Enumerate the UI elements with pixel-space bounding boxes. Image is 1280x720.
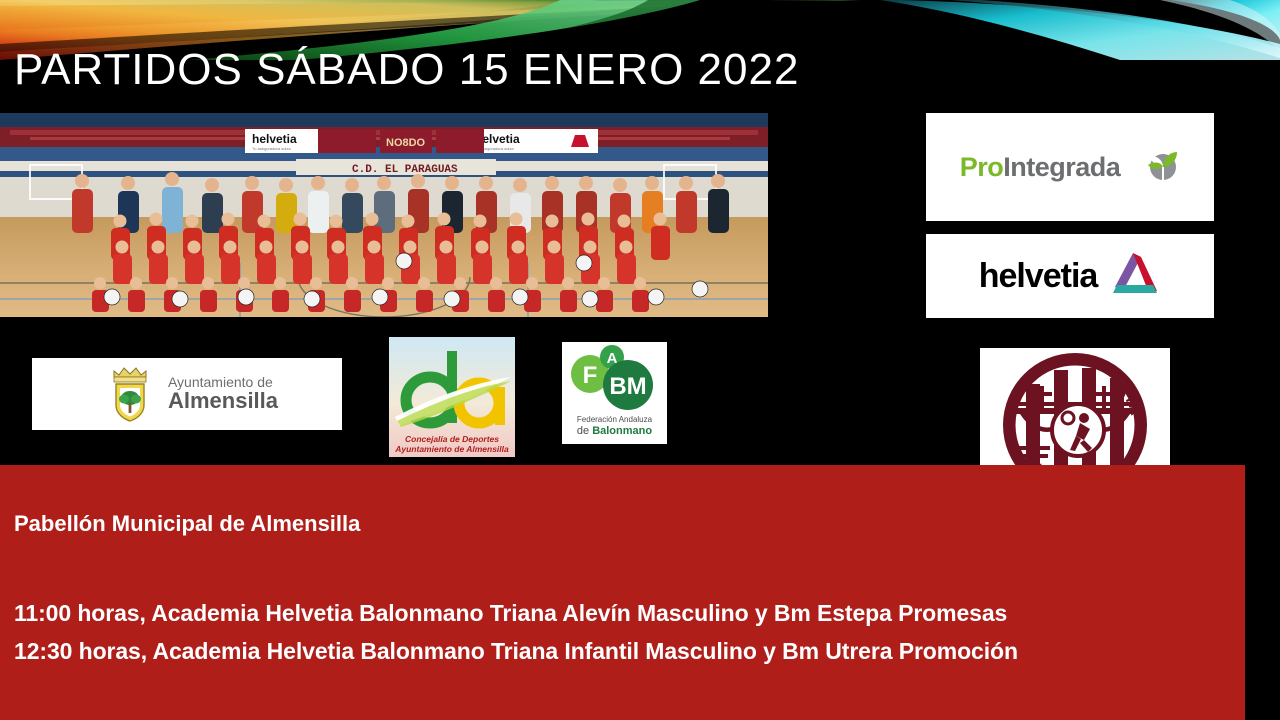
svg-text:helvetia: helvetia — [252, 132, 297, 146]
helvetia-wordmark: helvetia — [979, 257, 1098, 296]
sponsor-logo-prointegrada: ProIntegrada — [926, 113, 1214, 221]
svg-text:C.D. EL PARAGUAS: C.D. EL PARAGUAS — [352, 164, 458, 176]
triangle-3d-icon — [1107, 251, 1161, 302]
svg-text:Tu aseguradora suiza: Tu aseguradora suiza — [252, 146, 291, 151]
match-row-1: 11:00 horas, Academia Helvetia Balonmano… — [14, 600, 1007, 627]
deportes-line2: Ayuntamiento de Almensilla — [389, 444, 515, 454]
leaf-circle-icon — [1146, 148, 1180, 187]
ayuntamiento-line2: Almensilla — [168, 390, 278, 412]
poster-canvas: PARTIDOS SÁBADO 15 ENERO 2022 — [0, 0, 1280, 720]
footer-red-band — [0, 465, 1245, 720]
fabm-line1: Federación Andaluza — [562, 415, 667, 424]
svg-text:BM: BM — [609, 373, 646, 400]
deportes-line1: Concejalía de Deportes — [389, 434, 515, 444]
match-row-2: 12:30 horas, Academia Helvetia Balonmano… — [14, 638, 1018, 665]
venue-label: Pabellón Municipal de Almensilla — [14, 511, 360, 537]
prointegrada-name-part1: Pro — [960, 152, 1004, 182]
institution-logo-federacion-andaluza-balonmano: F A BM Federación Andaluza de Balonmano — [562, 342, 667, 444]
page-title: PARTIDOS SÁBADO 15 ENERO 2022 — [14, 48, 799, 92]
team-photo: helvetia Tu aseguradora suiza helvetia T… — [0, 113, 768, 317]
prointegrada-name-part2: Integrada — [1003, 152, 1120, 182]
sponsor-logo-helvetia: helvetia — [926, 234, 1214, 318]
crest-shield-tree-icon — [106, 361, 154, 428]
fabm-line2-bold: Balonmano — [592, 425, 652, 437]
institution-logo-ayuntamiento-almensilla: Ayuntamiento de Almensilla — [32, 358, 342, 430]
ayuntamiento-line1: Ayuntamiento de — [168, 375, 278, 389]
fabm-line2-prefix: de — [577, 425, 592, 437]
institution-logo-concejalia-deportes: Concejalía de Deportes Ayuntamiento de A… — [389, 337, 515, 457]
svg-text:NO8DO: NO8DO — [386, 137, 426, 149]
svg-text:F: F — [583, 362, 598, 389]
